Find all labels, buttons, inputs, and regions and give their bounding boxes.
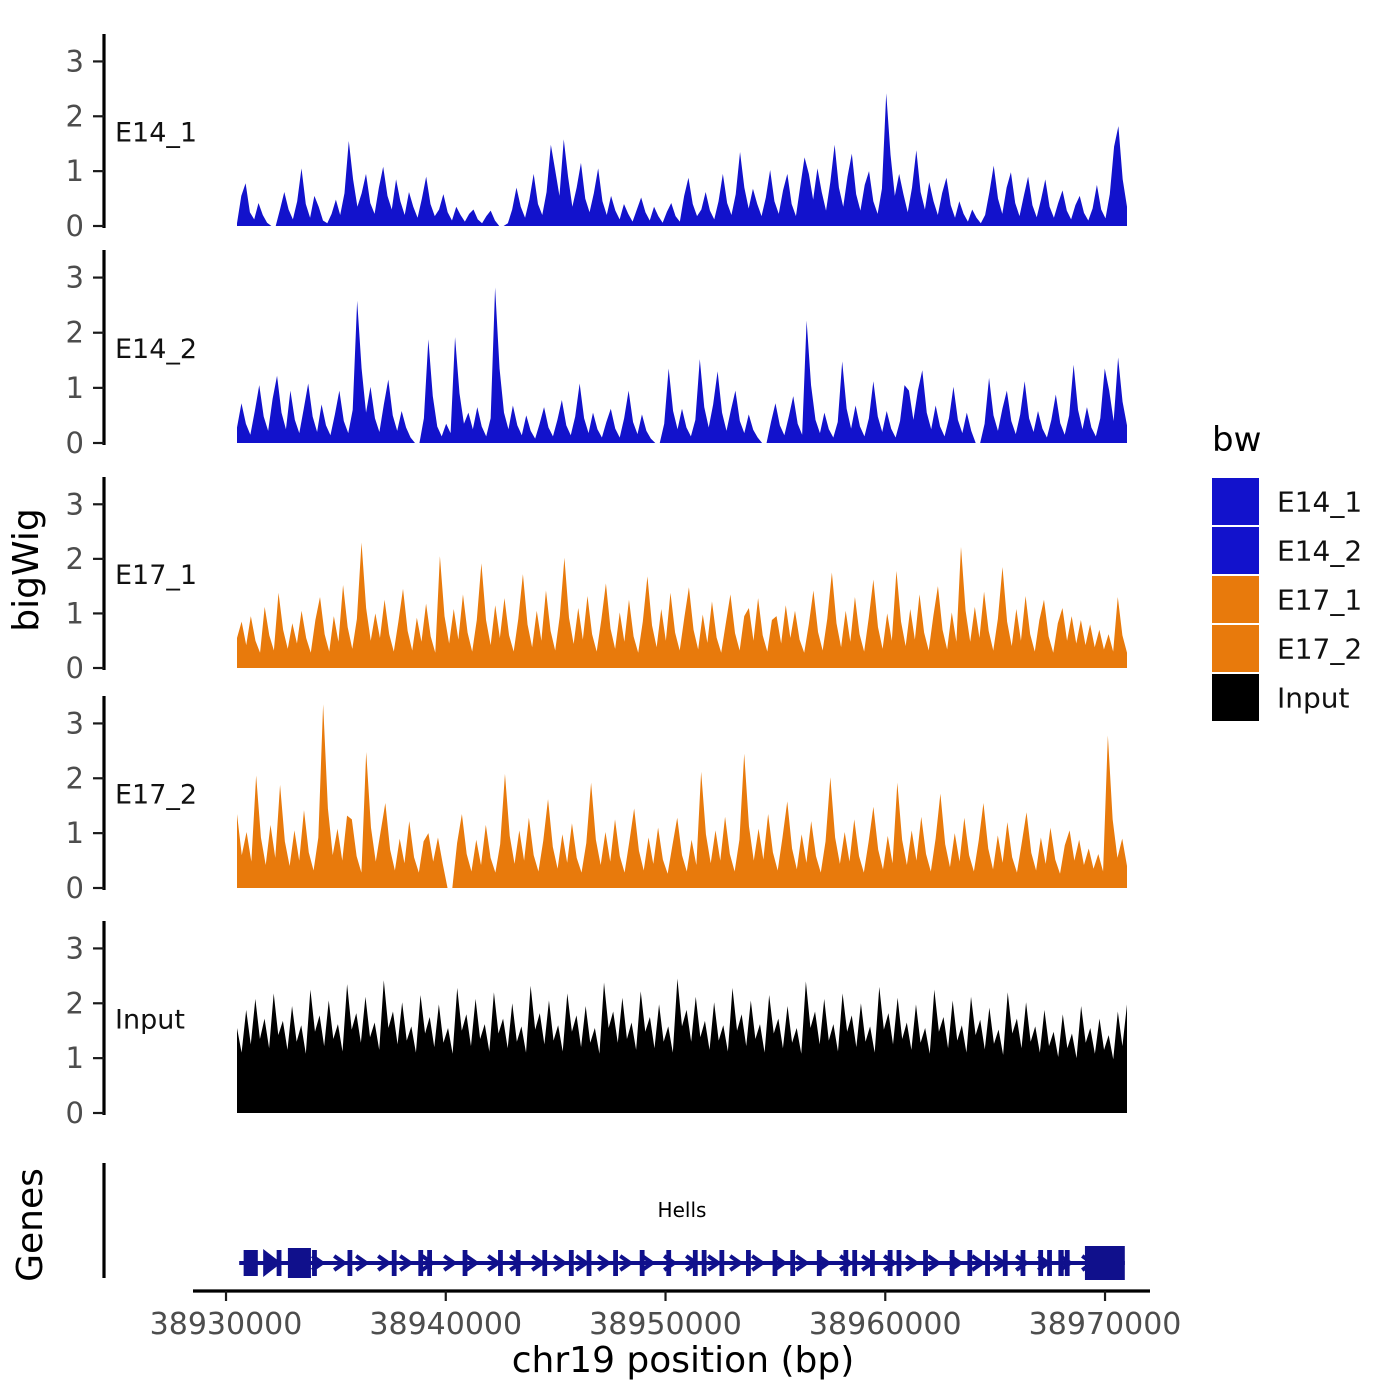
y-tick-label: 2	[66, 761, 84, 795]
gene-exon-small	[773, 1250, 778, 1276]
gene-exon-small	[569, 1250, 574, 1276]
genes-axis-title: Genes	[10, 1168, 51, 1282]
y-tick-label: 0	[66, 426, 84, 460]
gene-exon-small	[1038, 1250, 1043, 1276]
x-tick-label: 38960000	[809, 1307, 962, 1342]
gene-exon-small	[702, 1250, 707, 1276]
gene-exon-small	[693, 1250, 698, 1276]
legend-swatch-e14_2[interactable]	[1212, 527, 1259, 574]
x-axis-title: chr19 position (bp)	[512, 1340, 855, 1381]
x-tick-label: 38940000	[369, 1307, 522, 1342]
gene-exon-small	[843, 1250, 848, 1276]
gene-exon-small	[897, 1250, 902, 1276]
gene-exon-small	[1021, 1250, 1026, 1276]
legend-label-e17_2: E17_2	[1277, 633, 1362, 666]
y-tick-label: 3	[66, 706, 84, 740]
gene-exon-small	[312, 1250, 317, 1276]
gene-exon-small	[640, 1250, 645, 1276]
figure-background	[0, 0, 1400, 1400]
gene-exon-small	[985, 1250, 990, 1276]
gene-exon-small	[613, 1250, 618, 1276]
gene-exon-block	[244, 1250, 258, 1276]
x-tick-label: 38950000	[589, 1307, 742, 1342]
figure-root: bigWig Genes chr19 position (bp) 0123E14…	[0, 0, 1400, 1400]
legend-swatch-e17_1[interactable]	[1212, 576, 1259, 623]
legend-label-input: Input	[1277, 682, 1350, 715]
gene-exon-small	[852, 1250, 857, 1276]
gene-exon-small	[923, 1250, 928, 1276]
x-tick-label: 38930000	[150, 1307, 303, 1342]
gene-exon-small	[746, 1250, 751, 1276]
gene-exon-small	[587, 1250, 592, 1276]
gene-exon-small	[888, 1250, 893, 1276]
gene-exon-small	[967, 1250, 972, 1276]
track-label-e14_1: E14_1	[115, 118, 197, 149]
gene-exon-block	[288, 1248, 311, 1278]
x-tick-label: 38970000	[1029, 1307, 1182, 1342]
legend-label-e14_2: E14_2	[1277, 535, 1362, 568]
gene-exon-small	[666, 1250, 671, 1276]
gene-exon-small	[392, 1250, 397, 1276]
track-label-e17_1: E17_1	[115, 560, 197, 591]
legend-swatch-e17_2[interactable]	[1212, 625, 1259, 672]
legend-title: bw	[1212, 420, 1261, 460]
y-tick-label: 1	[66, 1041, 84, 1075]
gene-exon-small	[348, 1250, 353, 1276]
gene-exon-small	[463, 1250, 468, 1276]
y-tick-label: 1	[66, 154, 84, 188]
y-tick-label: 2	[66, 99, 84, 133]
gene-exon-small	[790, 1250, 795, 1276]
gene-exon-small	[1065, 1250, 1070, 1276]
y-tick-label: 3	[66, 261, 84, 295]
y-axis-title: bigWig	[6, 508, 47, 631]
gene-name-label: Hells	[658, 1198, 707, 1222]
gene-exon-small	[1047, 1250, 1052, 1276]
y-tick-label: 3	[66, 487, 84, 521]
y-tick-label: 1	[66, 371, 84, 405]
legend-swatch-input[interactable]	[1212, 674, 1259, 721]
gene-exon-small	[418, 1250, 423, 1276]
track-label-e17_2: E17_2	[115, 780, 197, 811]
y-tick-label: 3	[66, 931, 84, 965]
y-tick-label: 3	[66, 44, 84, 78]
y-tick-label: 2	[66, 986, 84, 1020]
legend-label-e14_1: E14_1	[1277, 486, 1362, 519]
y-tick-label: 2	[66, 316, 84, 350]
legend-swatch-e14_1[interactable]	[1212, 478, 1259, 525]
y-tick-label: 2	[66, 542, 84, 576]
y-tick-label: 1	[66, 596, 84, 630]
gene-exon-block	[1058, 1250, 1063, 1276]
gene-exon-small	[950, 1250, 955, 1276]
gene-exon-small	[427, 1250, 432, 1276]
legend-label-e17_1: E17_1	[1277, 584, 1362, 617]
y-tick-label: 0	[66, 1096, 84, 1130]
y-tick-label: 0	[66, 871, 84, 905]
track-label-input: Input	[115, 1005, 185, 1036]
gene-exon-small	[870, 1250, 875, 1276]
y-tick-label: 0	[66, 651, 84, 685]
gene-exon-small	[498, 1250, 503, 1276]
gene-exon-small	[1003, 1250, 1008, 1276]
y-tick-label: 1	[66, 816, 84, 850]
y-tick-label: 0	[66, 209, 84, 243]
gene-exon-small	[817, 1250, 822, 1276]
gene-exon-small	[542, 1250, 547, 1276]
gene-exon-small	[516, 1250, 521, 1276]
genome-browser-figure: bigWig Genes chr19 position (bp) 0123E14…	[0, 0, 1400, 1400]
gene-exon-block	[1085, 1246, 1125, 1280]
track-label-e14_2: E14_2	[115, 334, 197, 365]
gene-exon-small	[719, 1250, 724, 1276]
